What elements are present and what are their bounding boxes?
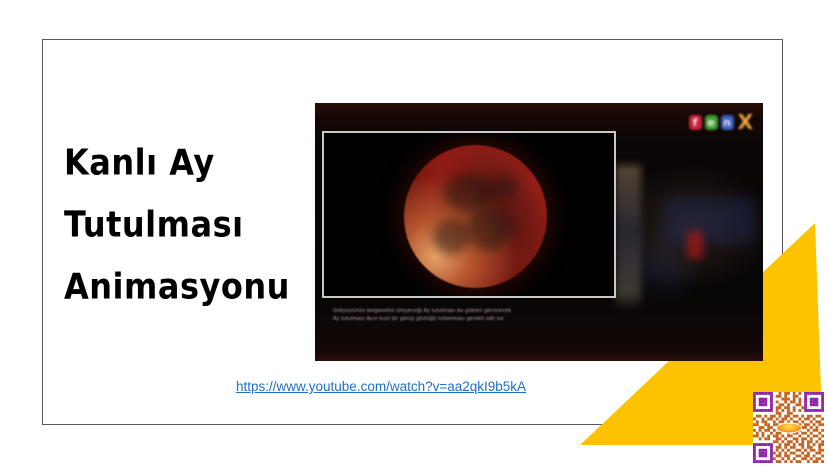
subtitle-line-2: Ay tutulması Ayın kızıl bir görüş gözlüğ…	[333, 315, 603, 323]
title-line-3: Animasyonu	[64, 251, 314, 320]
subtitle-line-1: Gökyüzünün belgeselini izleyeceği Ay tut…	[333, 307, 603, 315]
video-figure-silhouette	[615, 165, 641, 310]
blood-moon-image	[404, 145, 547, 288]
logo-letter-x: X	[738, 112, 753, 132]
video-subtitle: Gökyüzünün belgeselini izleyeceği Ay tut…	[333, 307, 603, 323]
moon-mare-3	[433, 219, 470, 253]
video-red-glow	[687, 231, 703, 259]
video-inner-screen	[322, 131, 616, 298]
video-thumbnail[interactable]: Gökyüzünün belgeselini izleyeceği Ay tut…	[315, 103, 763, 361]
qr-center-logo	[776, 422, 802, 433]
title-line-2: Tutulması	[64, 189, 314, 258]
page-title: Kanlı Ay Tutulması Animasyonu	[64, 131, 314, 317]
title-line-1: Kanlı Ay	[64, 127, 314, 196]
video-blue-glow	[665, 198, 755, 243]
fenx-channel-logo: f e n X	[689, 112, 753, 132]
moon-mare-4	[493, 176, 519, 199]
logo-letter-n: n	[721, 115, 734, 130]
logo-letter-e: e	[705, 115, 718, 130]
youtube-video-link[interactable]: https://www.youtube.com/watch?v=aa2qkI9b…	[236, 379, 526, 394]
moon-mare-2	[467, 208, 510, 251]
moon-mare-1	[444, 174, 493, 211]
qr-code[interactable]	[753, 392, 824, 463]
logo-letter-f: f	[689, 115, 702, 130]
